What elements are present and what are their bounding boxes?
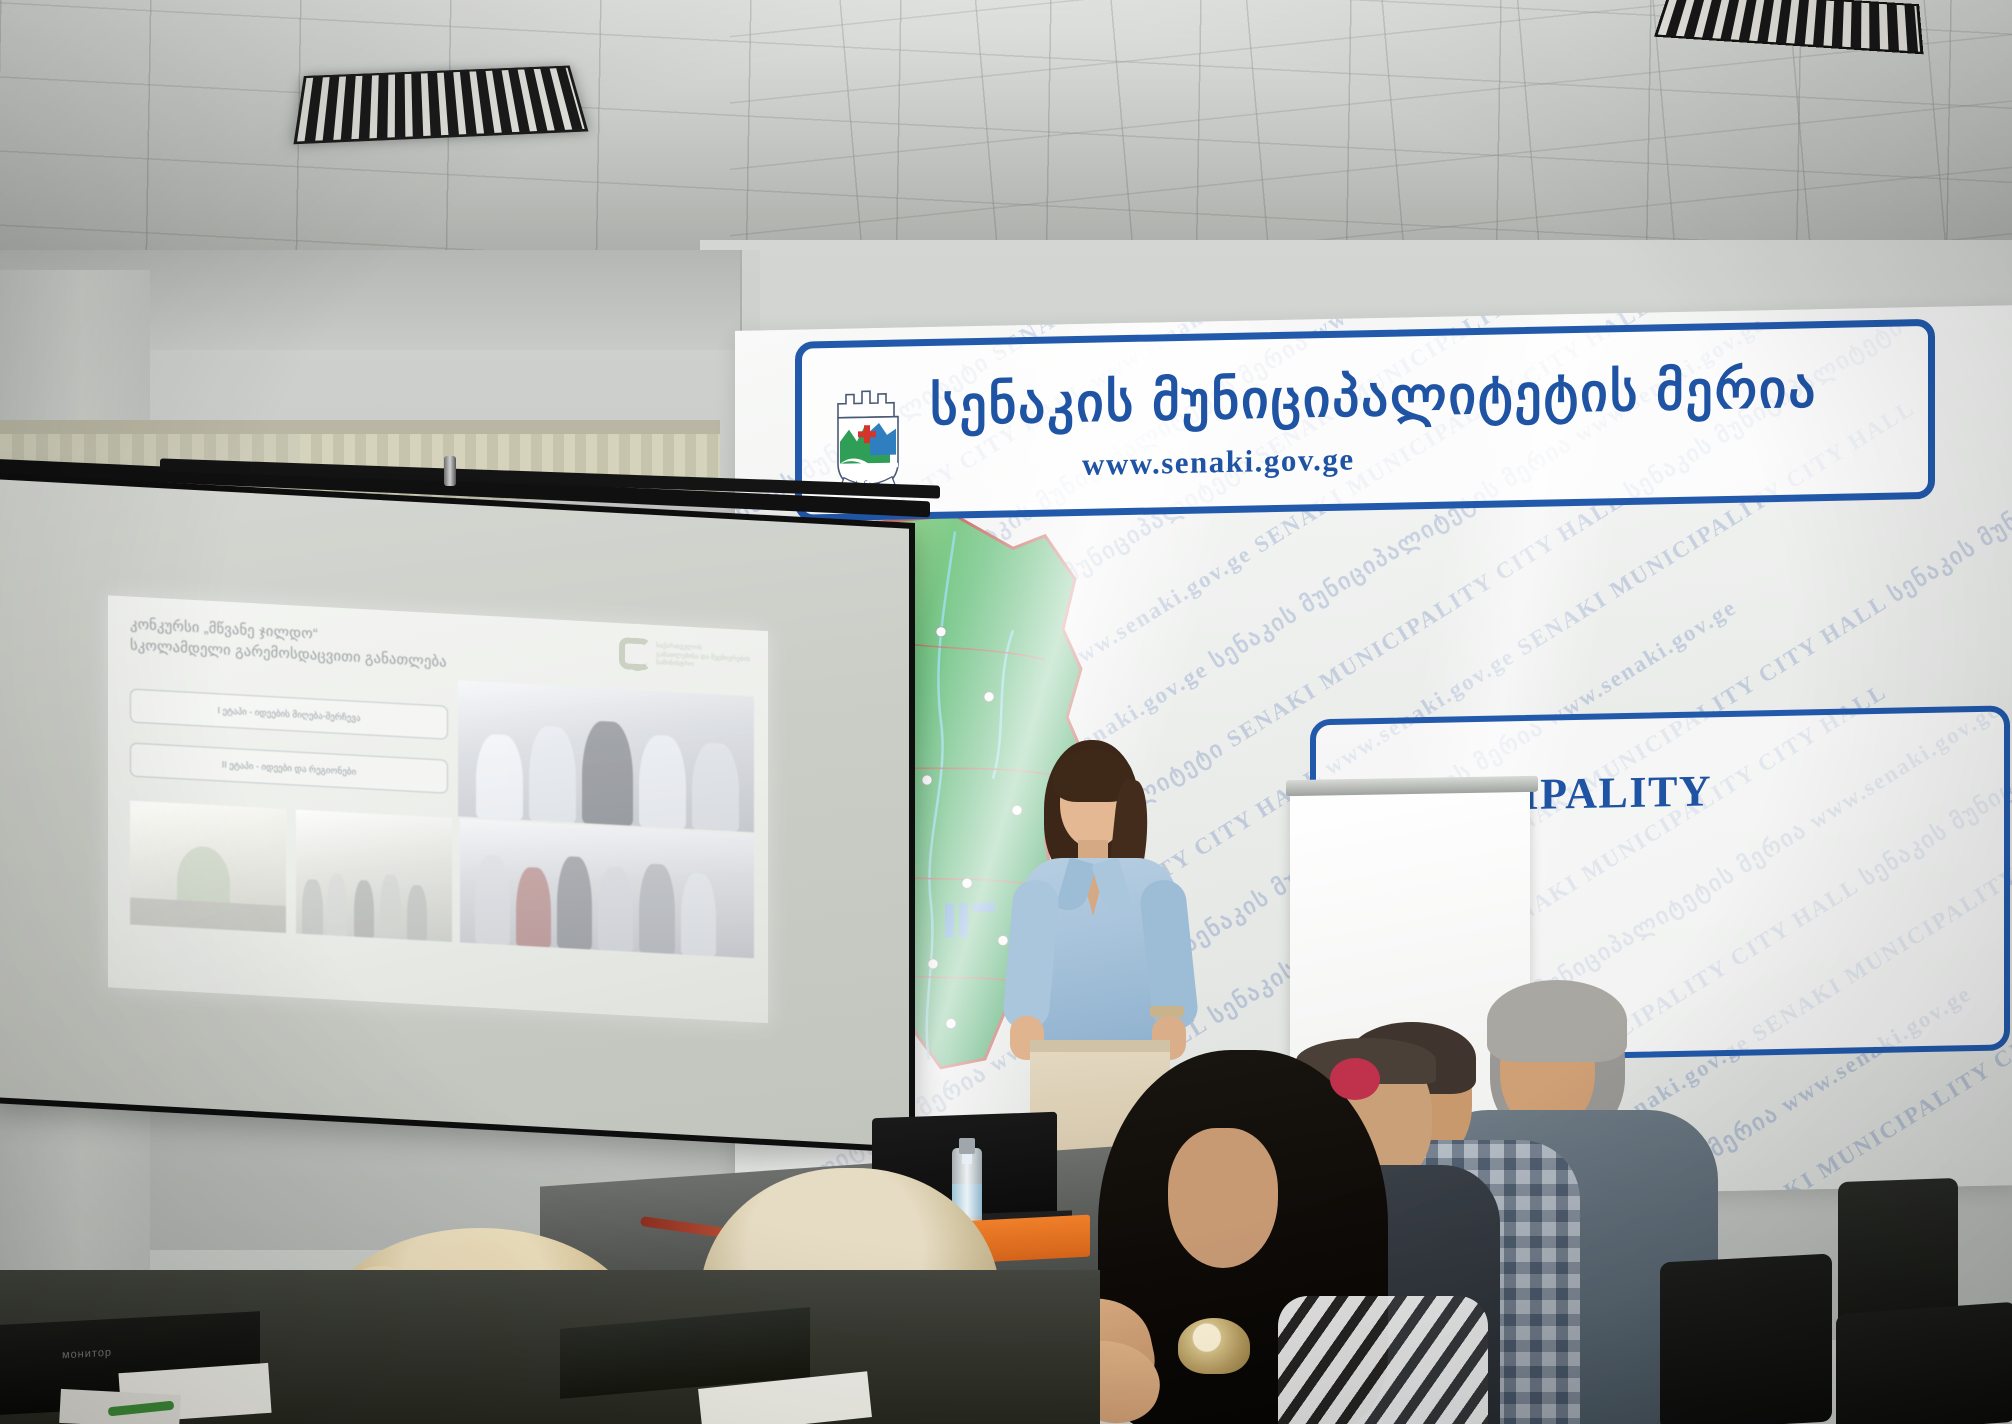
slide-photo-figures — [458, 680, 754, 832]
audience-hair-clip — [1178, 1318, 1250, 1374]
projection-screen: კონკურსი „მწვანე ჯილდო“ სკოლამდელი გარემ… — [0, 473, 915, 1153]
window-blinds-headrail — [0, 420, 720, 434]
bottle-cap — [959, 1138, 975, 1154]
projector-screen-knob — [444, 456, 456, 486]
slide-photo-group-award — [458, 680, 754, 832]
slide-photo-conference-hall — [296, 810, 452, 942]
slide-stage-1-box: I ეტაპი - იდეების მიღება-შერჩევა — [130, 689, 448, 740]
chair-right-1 — [1660, 1253, 1832, 1424]
presenter-belt — [1030, 1040, 1170, 1052]
audience-grey-man-hair — [1487, 980, 1627, 1062]
presentation-slide: კონკურსი „მწვანე ჯილდო“ სკოლამდელი გარემ… — [108, 595, 768, 1023]
slide-title: კონკურსი „მწვანე ჯილდო“ სკოლამდელი გარემ… — [130, 615, 550, 680]
audience-dark-haired-woman-face — [1168, 1128, 1278, 1268]
slide-photo-plant-window — [130, 801, 286, 933]
projection-surface: კონკურსი „მწვანე ჯილდო“ სკოლამდელი გარემ… — [0, 479, 909, 1146]
slide-stage-2-box: II ეტაპი - იდეები და რეგიონები — [130, 743, 448, 794]
banner-url: www.senaki.gov.ge — [1082, 441, 1355, 482]
slide-photo-award-ceremony — [460, 818, 754, 958]
ceiling-light-fixture-left — [293, 66, 588, 145]
light-louver-grid-icon — [297, 68, 585, 142]
senaki-coat-of-arms-icon: სენაკი — [830, 372, 906, 496]
audience-hair-tie — [1330, 1058, 1380, 1100]
ministry-logo-text: საქართველოს განათლებისა და მეცნიერების ს… — [656, 642, 750, 673]
ministry-logo: საქართველოს განათლებისა და მეცნიერების ს… — [619, 637, 750, 676]
banner-title-georgian: სენაკის მუნიციპალიტეტის მერია — [930, 358, 1817, 437]
room-photo-scene: SENAKI MUNICIPALITY CITY HALL სენაკის მუ… — [0, 0, 2012, 1424]
banner-title-box: სენაკი სენაკის მუნიციპალიტეტის მერია www… — [795, 319, 1935, 522]
chair-right-2 — [1836, 1302, 2012, 1424]
audience-patterned-shirt — [1278, 1296, 1488, 1424]
open-book-logo-icon — [619, 637, 651, 671]
